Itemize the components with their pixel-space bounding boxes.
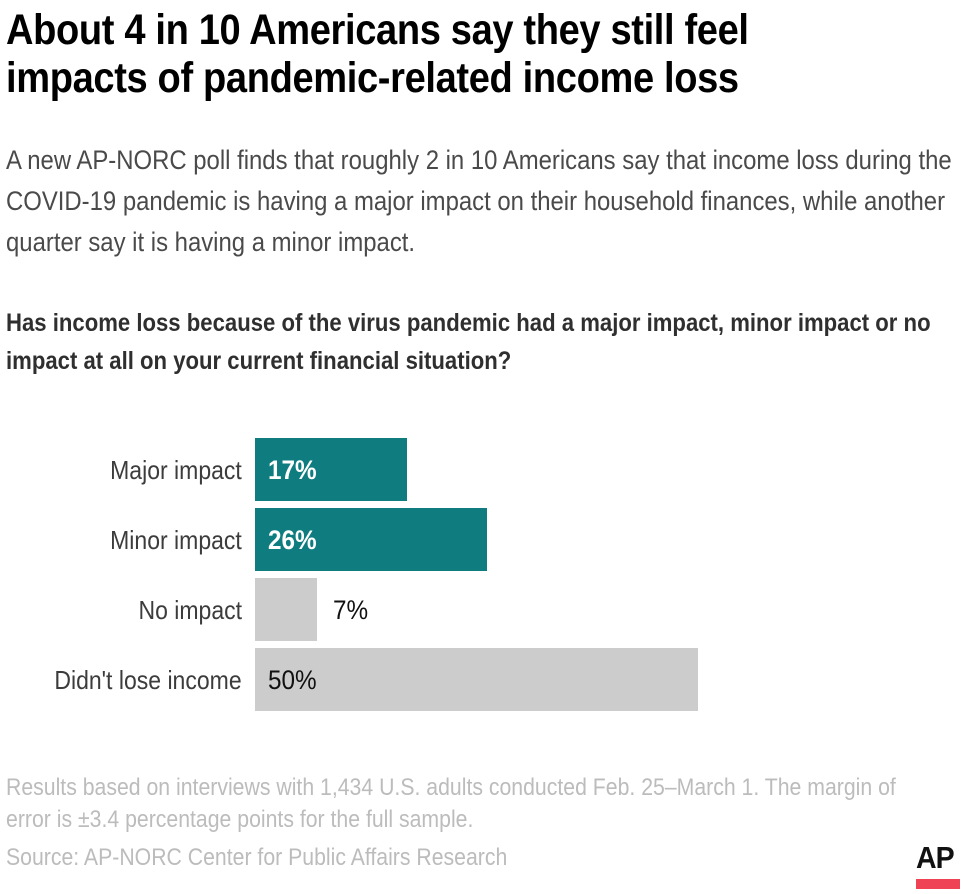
methodology-note: Results based on interviews with 1,434 U… [6, 772, 940, 836]
bar-row: No impact 7% [0, 578, 966, 641]
bar-category-label: No impact [0, 578, 242, 641]
bar-value-label: 7% [333, 578, 372, 641]
summary-paragraph: A new AP-NORC poll finds that roughly 2 … [6, 140, 966, 263]
bar-chart: Major impact 17% Minor impact 26% No imp… [0, 438, 966, 738]
bar-row: Major impact 17% [0, 438, 966, 501]
bar-value-label: 17% [268, 438, 322, 501]
bar-value-label: 50% [268, 648, 322, 711]
source-note: Source: AP-NORC Center for Public Affair… [6, 842, 940, 874]
bar-category-label: Didn't lose income [0, 648, 242, 711]
bar-fill [255, 578, 317, 641]
bar-row: Minor impact 26% [0, 508, 966, 571]
bar-category-label: Major impact [0, 438, 242, 501]
ap-accent-bar [916, 879, 960, 889]
page-title: About 4 in 10 Americans say they still f… [6, 6, 849, 102]
bar-row: Didn't lose income 50% [0, 648, 966, 711]
bar-value-label: 26% [268, 508, 322, 571]
poll-question: Has income loss because of the virus pan… [6, 304, 966, 380]
bar-category-label: Minor impact [0, 508, 242, 571]
ap-wordmark: AP [916, 843, 956, 873]
ap-logo: AP [916, 843, 960, 891]
